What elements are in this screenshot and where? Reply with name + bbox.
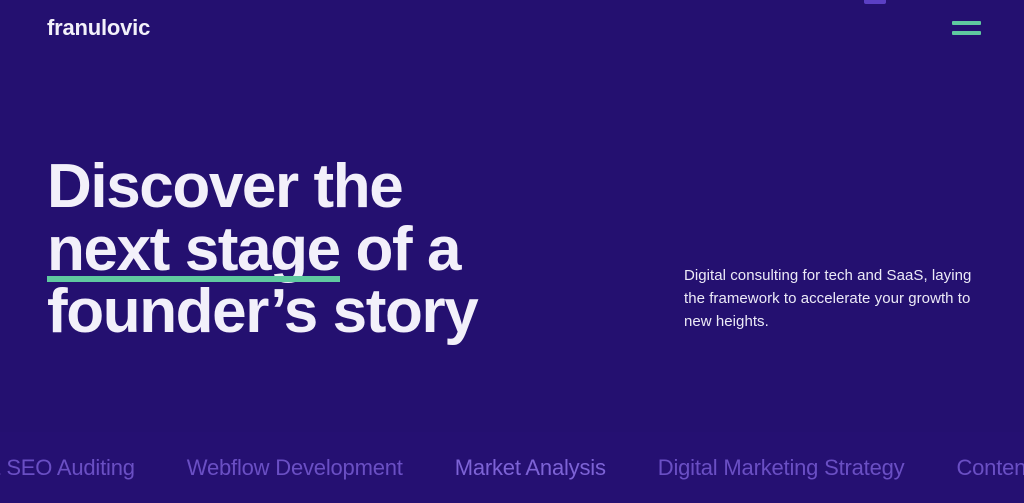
services-ticker: e & SEO Auditing Webflow Development Mar… [0, 432, 1024, 503]
hamburger-bar-bottom [952, 31, 981, 35]
headline-line-2-rest: of a [340, 215, 460, 284]
ticker-item-market-analysis[interactable]: Market Analysis [429, 457, 632, 479]
ticker-track: e & SEO Auditing Webflow Development Mar… [0, 457, 1024, 479]
hero-section: Discover the next stage of a founder’s s… [0, 56, 1024, 432]
hamburger-bar-top [952, 21, 981, 25]
ticker-item-seo-auditing[interactable]: e & SEO Auditing [0, 457, 161, 479]
hamburger-icon[interactable] [952, 17, 982, 39]
hero-page: franulovic Discover the next stage of a … [0, 0, 1024, 503]
ticker-item-content-strategy[interactable]: Content Strat [930, 457, 1024, 479]
headline-line-2: next stage of a [47, 219, 477, 282]
ticker-item-webflow-development[interactable]: Webflow Development [161, 457, 429, 479]
headline-line-3: founder’s story [47, 281, 477, 344]
headline-highlight: next stage [47, 219, 340, 282]
site-header: franulovic [0, 0, 1024, 56]
brand-logo[interactable]: franulovic [47, 17, 150, 39]
headline-line-1: Discover the [47, 156, 477, 219]
page-title: Discover the next stage of a founder’s s… [47, 156, 477, 344]
hero-description: Digital consulting for tech and SaaS, la… [684, 264, 974, 333]
ticker-item-digital-marketing-strategy[interactable]: Digital Marketing Strategy [632, 457, 931, 479]
